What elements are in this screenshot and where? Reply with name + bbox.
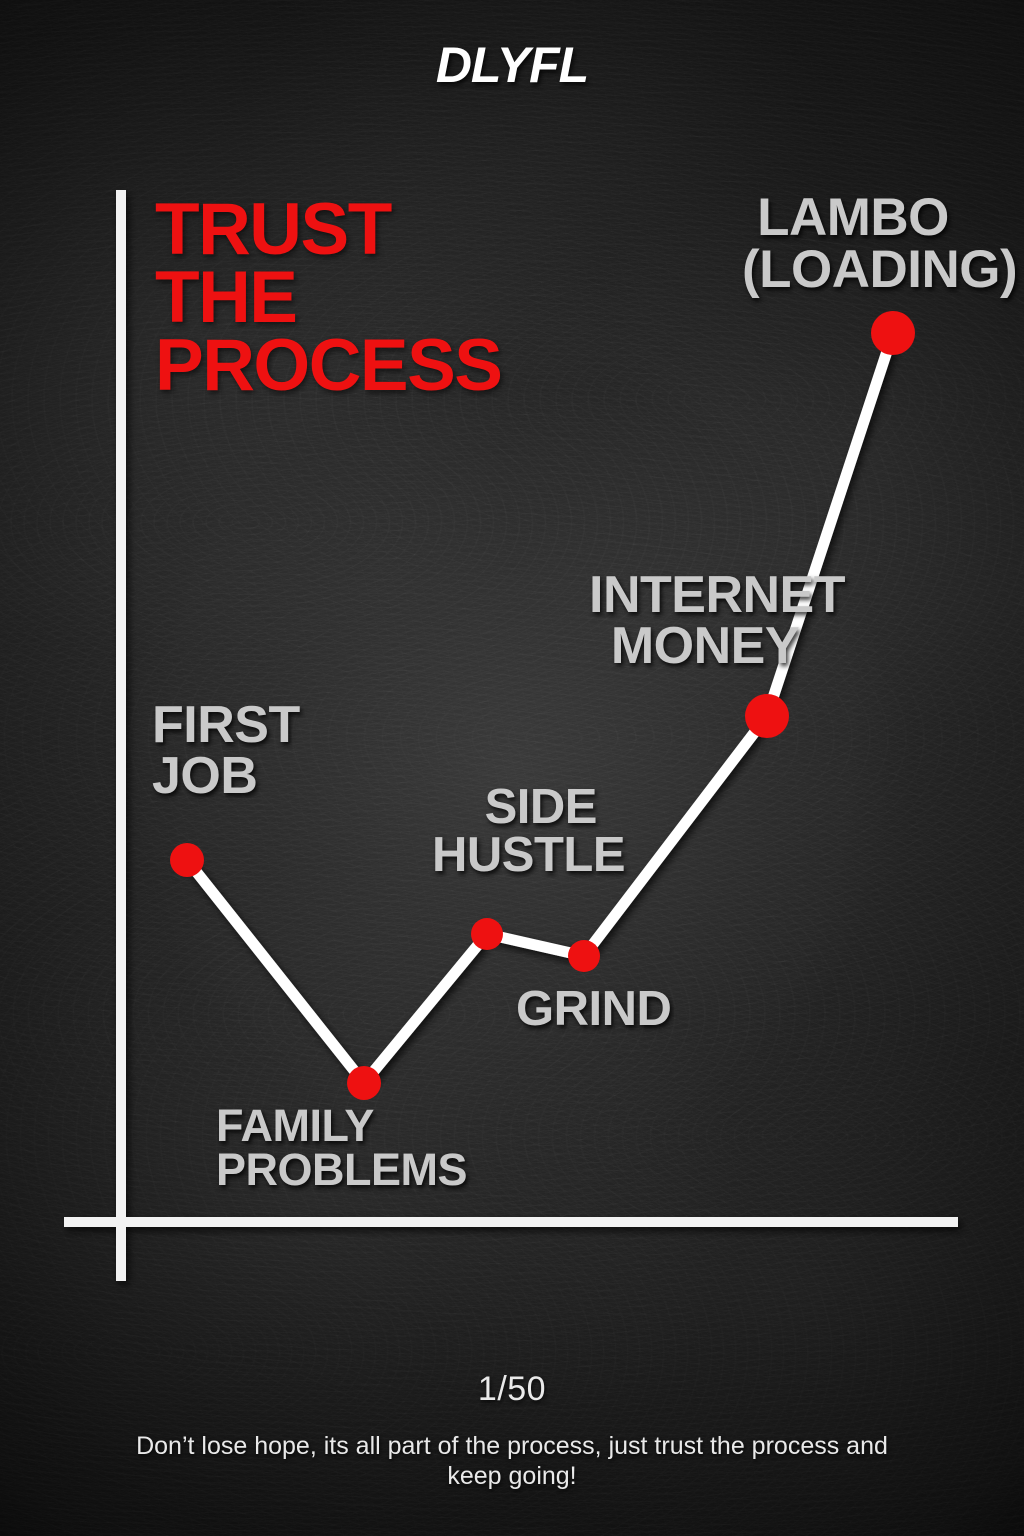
headline-line-3: PROCESS	[155, 332, 501, 400]
headline: TRUST THE PROCESS	[155, 196, 501, 400]
label-side-hustle: SIDE HUSTLE	[432, 783, 597, 879]
marker-family-problems	[347, 1066, 381, 1100]
marker-first-job	[170, 843, 204, 877]
label-first-job: FIRST JOB	[152, 700, 300, 802]
label-grind: GRIND	[516, 985, 671, 1033]
page-counter: 1/50	[0, 1370, 1024, 1409]
marker-side-hustle	[471, 918, 503, 950]
headline-line-2: THE	[155, 264, 501, 332]
label-family-problems: FAMILY PROBLEMS	[216, 1104, 467, 1192]
label-lambo: LAMBO (LOADING)	[742, 192, 964, 296]
marker-lambo	[871, 311, 915, 355]
marker-internet-money	[745, 694, 789, 738]
x-axis-line	[64, 1217, 958, 1227]
headline-line-1: TRUST	[155, 196, 501, 264]
poster-content: DLYFL	[0, 0, 1024, 1536]
marker-grind	[568, 940, 600, 972]
caption-text: Don’t lose hope, its all part of the pro…	[112, 1432, 912, 1491]
y-axis-line	[116, 190, 126, 1281]
poster-canvas: DLYFL	[0, 0, 1024, 1536]
label-internet-money: INTERNET MONEY	[589, 570, 799, 672]
